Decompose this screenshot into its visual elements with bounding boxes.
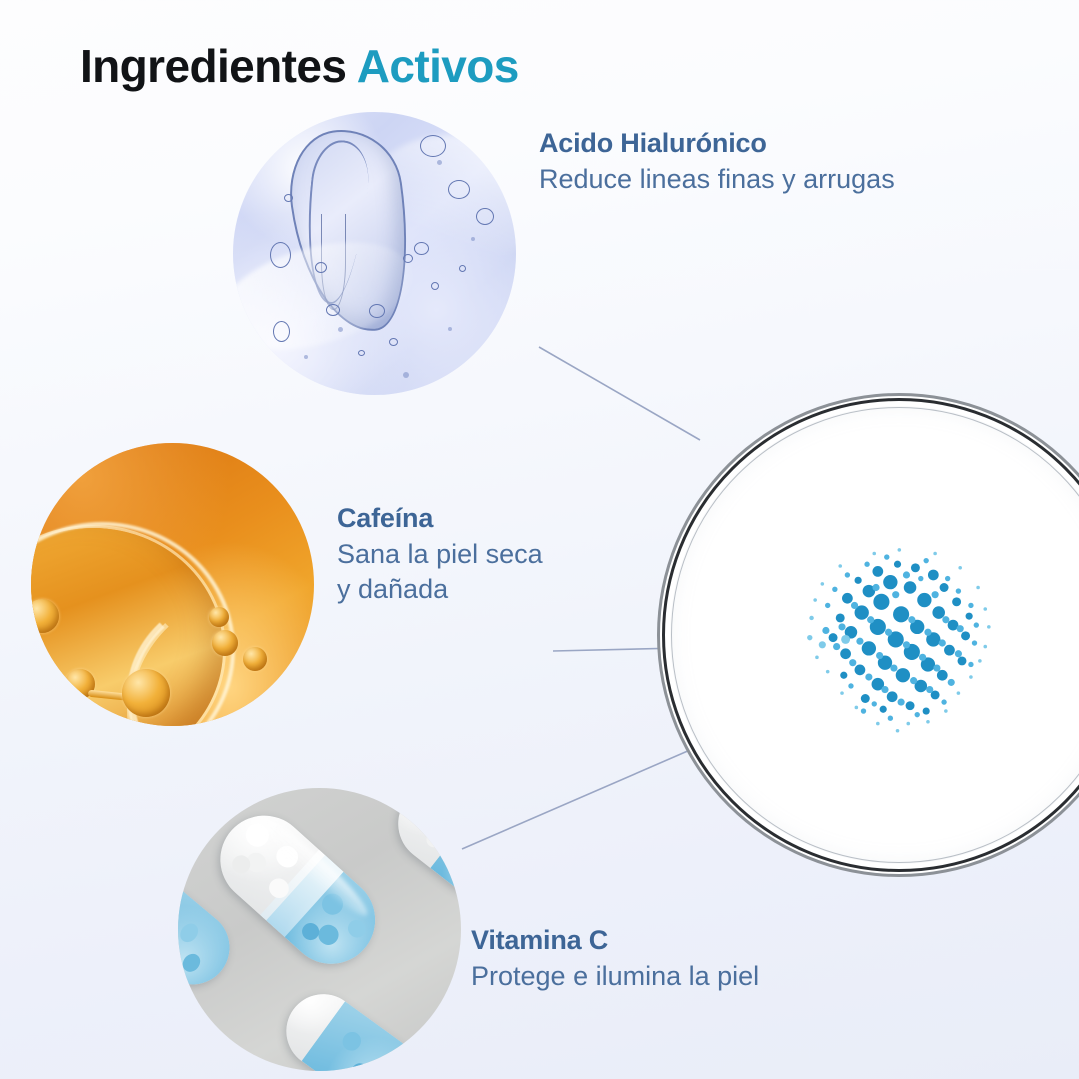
bubble-icon bbox=[471, 237, 475, 241]
blue-granules-cluster bbox=[787, 532, 1012, 738]
page-title-part-two: Activos bbox=[357, 40, 519, 92]
bubble-icon bbox=[273, 321, 290, 342]
ingredient-name-vitamin-c: Vitamina C bbox=[471, 925, 759, 956]
bubble-icon bbox=[437, 160, 442, 165]
oil-droplet bbox=[212, 630, 238, 656]
granules-svg bbox=[787, 532, 1012, 738]
bubble-icon bbox=[403, 254, 413, 263]
bubble-icon bbox=[420, 135, 446, 157]
bubble-icon bbox=[315, 262, 327, 273]
ingredient-image-vitamin-c bbox=[178, 788, 461, 1071]
bubble-icon bbox=[358, 350, 365, 356]
page-title-part-one: Ingredientes bbox=[80, 40, 346, 92]
oil-droplet bbox=[243, 647, 267, 671]
connector-line-hyaluronic bbox=[539, 347, 700, 440]
oil-droplet bbox=[122, 669, 170, 717]
ingredient-text-vitamin-c: Vitamina C Protege e ilumina la piel bbox=[471, 925, 759, 994]
ingredient-description-hyaluronic: Reduce lineas finas y arrugas bbox=[539, 162, 895, 197]
connector-line-caffeine bbox=[553, 648, 680, 651]
bubble-icon bbox=[338, 327, 343, 332]
ingredient-image-caffeine bbox=[31, 443, 314, 726]
connector-line-vitamin-c bbox=[462, 750, 690, 849]
ingredient-image-hyaluronic bbox=[233, 112, 516, 395]
ingredient-name-hyaluronic: Acido Hialurónico bbox=[539, 128, 895, 159]
ingredient-description-caffeine: Sana la piel seca y dañada bbox=[337, 537, 543, 606]
ingredient-text-hyaluronic: Acido Hialurónico Reduce lineas finas y … bbox=[539, 128, 895, 197]
ingredient-text-caffeine: Cafeína Sana la piel seca y dañada bbox=[337, 503, 543, 606]
ingredient-name-caffeine: Cafeína bbox=[337, 503, 543, 534]
infographic-canvas: Ingredientes Activos bbox=[0, 0, 1079, 1079]
bubble-icon bbox=[448, 180, 470, 199]
bubble-icon bbox=[284, 194, 293, 202]
product-petri-dish bbox=[662, 398, 1079, 872]
ingredient-description-vitamin-c: Protege e ilumina la piel bbox=[471, 959, 759, 994]
bubble-icon bbox=[270, 242, 291, 268]
bubble-icon bbox=[431, 282, 439, 290]
page-title: Ingredientes Activos bbox=[80, 42, 519, 90]
